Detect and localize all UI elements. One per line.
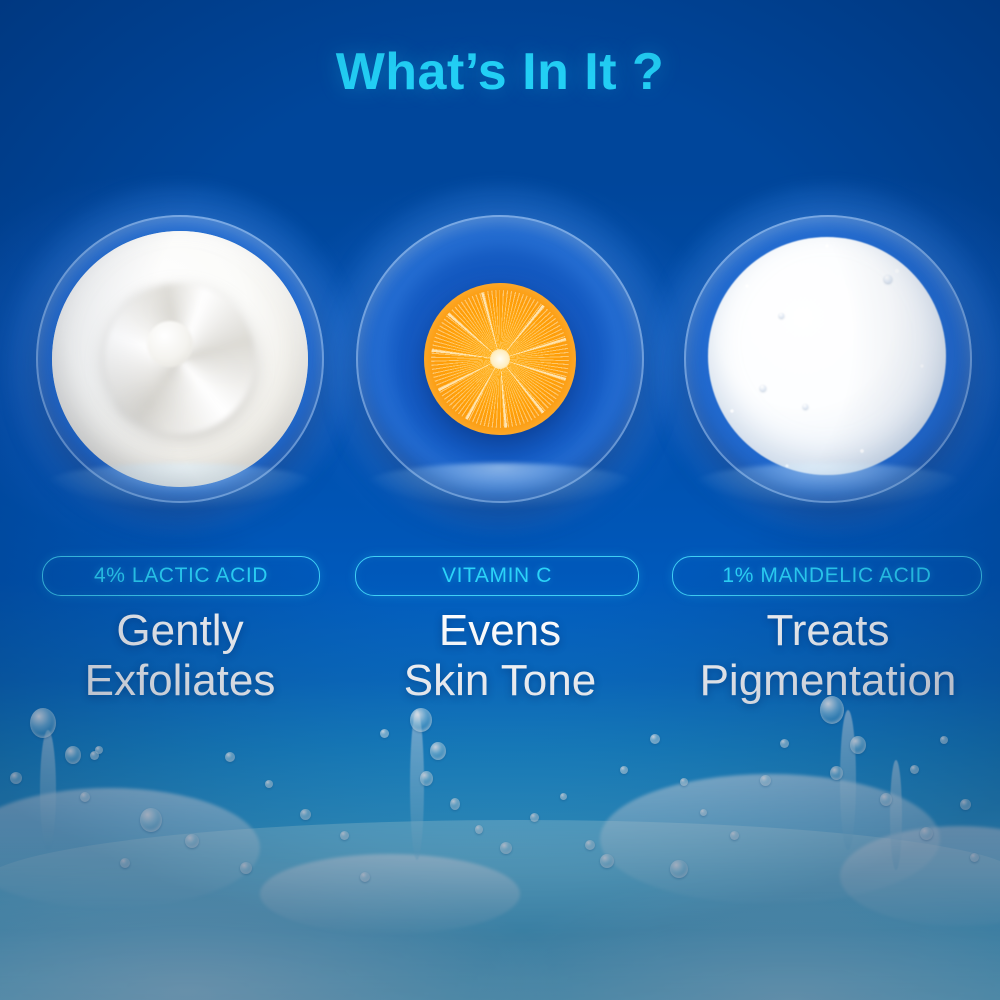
water-droplet (265, 780, 273, 788)
ingredient-dish-row (0, 215, 1000, 515)
water-droplet (850, 736, 866, 754)
water-droplet (560, 793, 567, 800)
benefit-line-1: Evens (439, 606, 561, 655)
water-droplet (120, 858, 130, 868)
benefit-line-1: Gently (116, 606, 243, 655)
water-droplet (90, 751, 99, 760)
pill-label: VITAMIN C (442, 564, 552, 588)
water-stream (840, 710, 856, 850)
water-droplet (80, 792, 90, 802)
pill-vitamin-c[interactable]: VITAMIN C (355, 556, 639, 596)
water-droplet (30, 708, 56, 738)
water-droplet (920, 827, 933, 840)
water-droplet (680, 778, 688, 786)
water-droplet (700, 809, 707, 816)
ingredient-pill-row: 4% LACTIC ACID VITAMIN C 1% MANDELIC ACI… (0, 556, 1000, 596)
benefit-line-1: Treats (766, 606, 889, 655)
water-droplet (410, 708, 432, 732)
water-droplet (910, 765, 919, 774)
water-droplet (670, 860, 688, 878)
water-droplet (450, 798, 460, 810)
dish-rim-highlight (360, 219, 640, 499)
water-droplet (300, 809, 311, 820)
water-stream (890, 760, 902, 870)
water-droplet (730, 831, 739, 840)
pill-lactic-acid[interactable]: 4% LACTIC ACID (42, 556, 320, 596)
product-infographic: What’s In It ? (0, 0, 1000, 1000)
water-droplet (880, 793, 892, 806)
ingredient-dish-vitamin-c (356, 215, 644, 503)
water-droplet (500, 842, 512, 854)
water-droplet (380, 729, 389, 738)
water-droplet (760, 775, 771, 786)
ingredient-dish-mandelic-acid (684, 215, 972, 503)
water-droplet (620, 766, 628, 774)
dish-base-reflection (690, 463, 966, 509)
water-splash-decoration (0, 670, 1000, 1000)
water-droplet (225, 752, 235, 762)
water-droplet (240, 862, 252, 874)
water-droplet (430, 742, 446, 760)
water-droplet (140, 808, 162, 832)
water-droplet (10, 772, 22, 784)
ingredient-dish-lactic-acid (36, 215, 324, 503)
water-droplet (530, 813, 539, 822)
water-droplet (585, 840, 595, 850)
dish-rim-highlight (40, 219, 320, 499)
dish-base-reflection (42, 463, 318, 509)
page-title: What’s In It ? (0, 42, 1000, 102)
water-droplet (600, 854, 614, 868)
water-droplet (940, 736, 948, 744)
water-stream (40, 730, 56, 850)
dish-rim-highlight (688, 219, 968, 499)
water-stream (410, 710, 424, 860)
water-droplet (970, 853, 979, 862)
water-droplet (475, 825, 483, 834)
wave-crest (260, 854, 520, 934)
water-droplet (185, 834, 199, 848)
water-droplet (420, 771, 433, 786)
water-droplet (340, 831, 349, 840)
water-droplet (960, 799, 971, 810)
pill-label: 1% MANDELIC ACID (722, 564, 931, 588)
water-droplet (65, 746, 81, 764)
pill-mandelic-acid[interactable]: 1% MANDELIC ACID (672, 556, 982, 596)
water-droplet (820, 696, 844, 724)
pill-label: 4% LACTIC ACID (94, 564, 268, 588)
water-droplet (360, 872, 370, 882)
dish-base-reflection (362, 463, 638, 509)
water-droplet (650, 734, 660, 744)
water-droplet (830, 766, 843, 780)
water-droplet (780, 739, 789, 748)
